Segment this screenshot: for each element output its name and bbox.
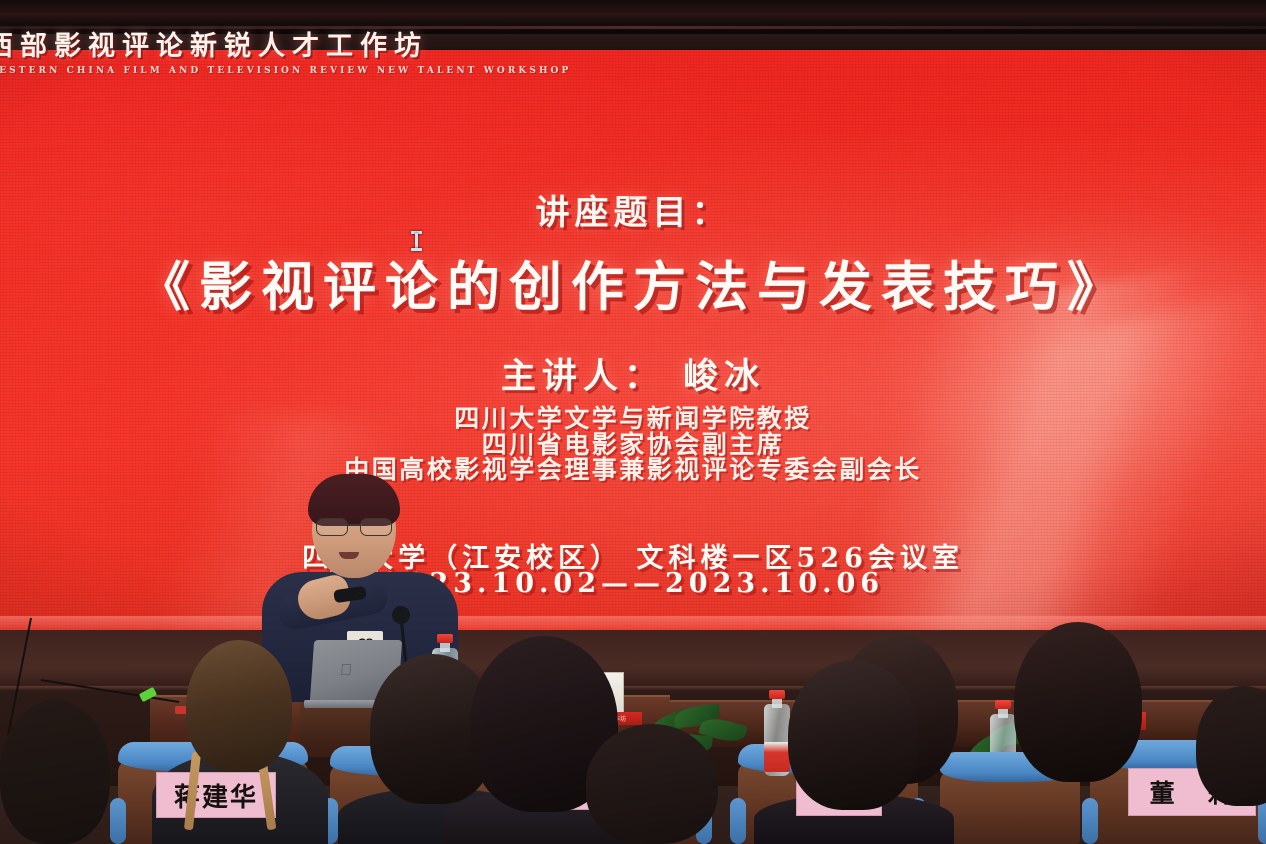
date-range-line: 2023.10.02——2023.10.06 (0, 568, 1266, 599)
speaker-credential-3: 中国高校影视学会理事兼影视评论专委会副会长 (0, 450, 1266, 486)
audience-head-7 (1014, 622, 1142, 782)
apple-logo-icon:  (339, 662, 356, 680)
slide-content: 讲座题目： 《影视评论的创作方法与发表技巧》 主讲人： 峻冰 四川大学文学与新闻… (0, 50, 1266, 632)
eyeglasses-icon (316, 518, 392, 534)
screenshot-root: 西部影视评论新锐人才工作坊 WESTERN CHINA FILM AND TEL… (0, 0, 1266, 844)
audience-head-1 (186, 640, 292, 772)
audience-head-0 (0, 700, 110, 844)
name-card-1: 蒋建华 (156, 772, 276, 818)
speaker-name-line: 主讲人： 峻冰 (0, 348, 1266, 399)
microphone-icon (392, 606, 410, 624)
text-cursor-ibeam[interactable] (410, 230, 423, 252)
audience-head-5 (788, 660, 918, 810)
audience-head-4 (586, 724, 718, 844)
lecture-label: 讲座题目： (0, 185, 1266, 234)
audience-head-8 (1196, 686, 1266, 806)
lecture-title: 《影视评论的创作方法与发表技巧》 (0, 245, 1266, 321)
